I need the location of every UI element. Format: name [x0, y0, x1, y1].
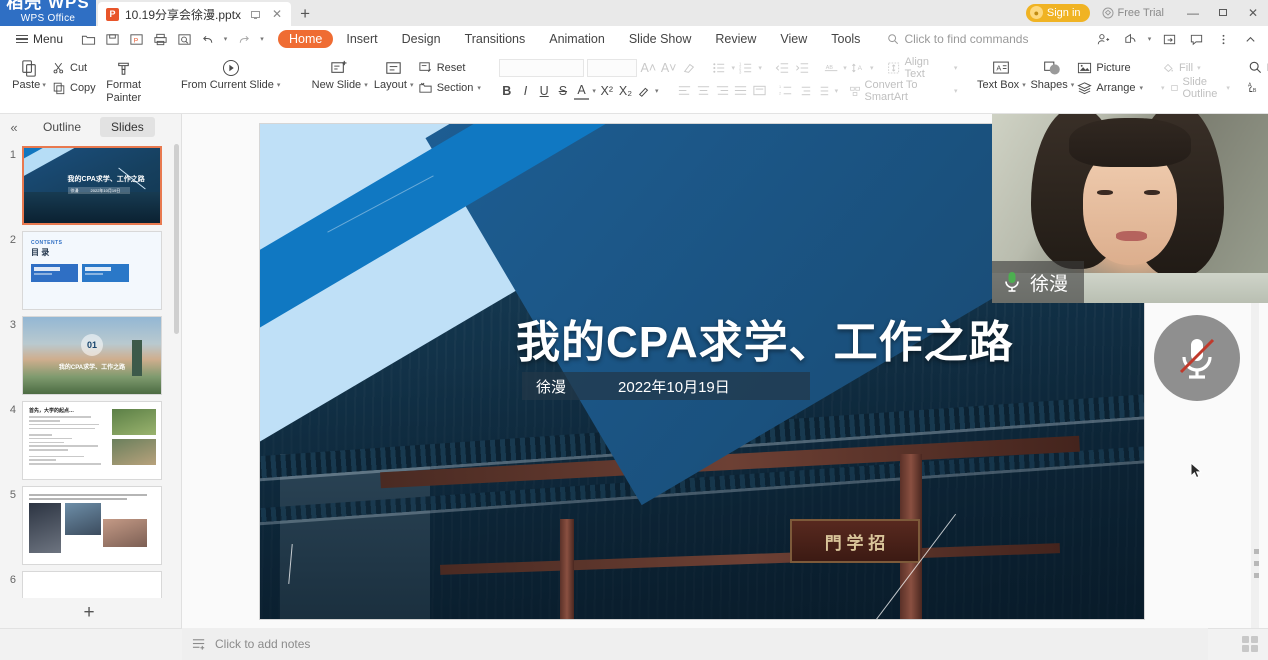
align-text-button[interactable]: Align Text▾	[887, 59, 957, 76]
titlebar-right-group: ● Sign in Free Trial — ✕	[1026, 0, 1268, 26]
document-tab-label: 10.19分享会徐漫.pptx	[125, 6, 241, 23]
underline-icon[interactable]: U	[536, 82, 552, 100]
participant-name-chip: 徐漫	[992, 261, 1084, 303]
slide-number: 3	[4, 316, 22, 331]
sign-in-button[interactable]: ● Sign in	[1026, 4, 1090, 22]
thumb3-pagoda	[132, 340, 142, 375]
notes-placeholder-label: Click to add notes	[215, 637, 310, 651]
thumb4-photo-2	[112, 439, 156, 465]
scissors-icon	[52, 61, 66, 75]
slide-thumbnail-canvas[interactable]	[22, 571, 162, 601]
fill-button[interactable]: Fill▾	[1161, 59, 1230, 76]
decrease-indent-icon[interactable]	[774, 59, 791, 77]
share-dropdown-icon[interactable]: ▾	[1145, 28, 1154, 50]
grow-font-icon[interactable]: A˄	[640, 59, 657, 77]
slide-thumbnail-canvas[interactable]: 01 我的CPA求学、工作之路	[22, 316, 162, 395]
new-slide-label: New Slide	[312, 79, 362, 92]
align-left-icon[interactable]	[677, 82, 693, 100]
thumb2-card-2	[82, 264, 129, 282]
align-text-label: Align Text	[905, 56, 950, 80]
mute-microphone-button[interactable]	[1154, 315, 1240, 401]
numbering-icon[interactable]: 12	[779, 82, 795, 100]
slide-number: 2	[4, 231, 22, 246]
layout-button[interactable]: Layout▾	[370, 54, 418, 92]
comment-icon[interactable]	[1184, 28, 1208, 50]
shapes-label: Shapes	[1030, 79, 1067, 92]
fill-label: Fill	[1179, 62, 1193, 74]
svg-text:B: B	[1253, 88, 1257, 94]
thumb2-art: CONTENTS 目 录	[23, 232, 161, 309]
superscript-icon[interactable]: X²	[599, 82, 615, 100]
paste-button[interactable]: Paste▾	[6, 54, 52, 92]
arrange-label: Arrange	[1096, 82, 1135, 94]
reset-button[interactable]: Reset	[418, 59, 481, 76]
thumb1-photo	[24, 192, 160, 224]
participant-name-label: 徐漫	[1030, 269, 1068, 296]
slide-number: 5	[4, 486, 22, 501]
sign-in-label: Sign in	[1047, 7, 1081, 19]
layout-label: Layout	[374, 79, 407, 92]
reset-label: Reset	[437, 62, 466, 74]
svg-text:P: P	[133, 37, 138, 44]
play-circle-icon	[220, 57, 242, 79]
slide-thumbnail-canvas[interactable]: CONTENTS 目 录	[22, 231, 162, 310]
menu-button[interactable]: Menu	[8, 28, 71, 50]
tab-home[interactable]: Home	[278, 30, 333, 48]
menu-button-label: Menu	[33, 32, 63, 46]
slide-number: 1	[4, 146, 22, 161]
sidebar-tab-slides[interactable]: Slides	[100, 117, 155, 137]
slides-small-buttons: Reset Section ▾	[418, 54, 481, 96]
thumb2-contents-en: CONTENTS	[31, 240, 153, 246]
thumb5-photo-3	[103, 519, 147, 547]
add-slide-button[interactable]: +	[4, 598, 174, 628]
video-eye-right	[1144, 190, 1161, 196]
cut-label: Cut	[70, 62, 87, 74]
temple-beam-2	[440, 543, 1060, 575]
quick-access-toolbar: P ▾ ▾	[77, 29, 268, 50]
slide-title-text[interactable]: 我的CPA求学、工作之路	[516, 306, 1014, 370]
close-tab-icon[interactable]: ✕	[269, 6, 285, 22]
logo-glyph-text: 稻壳 WPS	[0, 0, 96, 13]
notes-icon	[192, 637, 207, 651]
numbered-list-icon[interactable]: 123	[738, 59, 755, 77]
text-box-button[interactable]: A Text Box▾	[975, 54, 1027, 92]
slide-outline-label: Slide Outline	[1182, 76, 1222, 100]
ribbon-group-format: Fill▾ ▾ Slide Outline▾	[1155, 54, 1236, 112]
slide-outline-icon	[1170, 81, 1179, 95]
new-slide-button[interactable]: New Slide▾	[310, 54, 370, 92]
grid-view-icon[interactable]	[1242, 636, 1258, 652]
font-controls: A˄ A˅ ▾ 123 ▾	[499, 54, 957, 100]
collapse-ribbon-icon[interactable]	[1238, 28, 1262, 50]
new-slide-icon	[329, 57, 350, 79]
section-button[interactable]: Section ▾	[418, 79, 481, 96]
replace-icon: AB	[1248, 80, 1264, 95]
copy-label: Copy	[70, 82, 96, 94]
svg-text:1: 1	[779, 85, 781, 89]
font-row-bottom: B I U S A ▾ X² X₂ ▾	[499, 81, 957, 100]
layout-icon	[383, 57, 404, 79]
pptx-file-icon: P	[106, 8, 119, 21]
more-options-icon[interactable]	[1211, 28, 1235, 50]
fill-icon	[1161, 61, 1175, 75]
tab-animation[interactable]: Animation	[538, 30, 616, 48]
undo-dropdown-icon[interactable]: ▾	[221, 29, 230, 50]
tab-tools[interactable]: Tools	[820, 30, 871, 48]
microphone-muted-icon	[1173, 332, 1221, 384]
font-color-icon[interactable]: A	[574, 82, 590, 100]
bold-icon[interactable]: B	[499, 82, 515, 100]
find-search-icon	[1248, 60, 1263, 75]
cut-button[interactable]: Cut	[52, 59, 96, 76]
convert-to-smartart-label: Convert To SmartArt	[865, 79, 950, 103]
print-preview-icon[interactable]	[173, 29, 195, 50]
section-icon	[418, 80, 433, 95]
account-avatar-icon: ●	[1030, 6, 1043, 19]
slide-date-text: 2022年10月19日	[618, 376, 730, 397]
format-painter-button[interactable]: Format Painter	[96, 54, 152, 105]
menu-tab-row: Menu P ▾ ▾ Home Insert Design T	[0, 26, 1268, 52]
maximize-button[interactable]	[1208, 1, 1238, 25]
video-call-overlay[interactable]: 徐漫	[992, 114, 1268, 303]
find-commands-label: Click to find commands	[904, 32, 1028, 46]
paragraph-spacing-icon[interactable]	[816, 82, 832, 100]
collapse-sidebar-icon[interactable]: «	[4, 120, 24, 135]
temple-pillar-2	[560, 519, 574, 619]
replace-button[interactable]: AB Replace ▾	[1248, 79, 1268, 96]
temple-plaque: 門 学 招	[790, 519, 920, 563]
font-name-select[interactable]	[499, 59, 584, 77]
notes-pane[interactable]: Click to add notes	[182, 628, 1208, 660]
thumb2-contents-cn: 目 录	[31, 247, 153, 258]
subscript-icon[interactable]: X₂	[618, 82, 634, 100]
ribbon-group-font-paragraph: A˄ A˅ ▾ 123 ▾	[493, 54, 963, 112]
picture-icon	[1077, 61, 1092, 75]
slide-navigator-sidebar: « Outline Slides 1 我的CPA求学、工作之路 徐漫 2	[0, 114, 182, 628]
clear-format-icon[interactable]	[680, 59, 697, 77]
arrange-button[interactable]: Arrange ▾	[1077, 79, 1143, 96]
thumb5-photo-2	[65, 503, 101, 535]
slide-subtitle-box[interactable]: 徐漫 2022年10月19日	[522, 372, 810, 400]
reset-icon	[418, 60, 433, 75]
strikethrough-icon[interactable]: S	[555, 82, 571, 100]
from-current-slide-label: From Current Slide	[181, 79, 274, 92]
thumb2-cards	[31, 264, 153, 282]
share-icon[interactable]	[1118, 28, 1142, 50]
undo-icon[interactable]	[197, 29, 219, 50]
find-button[interactable]: Find	[1248, 59, 1268, 76]
section-label: Section	[437, 82, 474, 94]
slide-thumbnail-2[interactable]: 2 CONTENTS 目 录	[0, 225, 182, 310]
find-commands-box[interactable]: Click to find commands	[887, 32, 1028, 46]
ribbon-toolbar: Paste▾ Cut Copy Format Painter	[0, 52, 1268, 114]
menubar-right-group: ▾	[1091, 28, 1268, 50]
clipboard-small-buttons: Cut Copy	[52, 54, 96, 96]
thumb3-art: 01 我的CPA求学、工作之路	[23, 317, 161, 394]
bullet-list-icon[interactable]	[711, 59, 728, 77]
svg-text:AB: AB	[825, 64, 833, 70]
search-icon	[887, 33, 899, 45]
share-user-icon[interactable]	[1091, 28, 1115, 50]
thumb1-meta-author: 徐漫	[71, 188, 79, 194]
align-text-icon	[887, 61, 900, 75]
tab-transitions[interactable]: Transitions	[454, 30, 537, 48]
tab-review[interactable]: Review	[704, 30, 767, 48]
sidebar-tab-outline[interactable]: Outline	[32, 117, 92, 137]
microphone-icon	[1002, 270, 1022, 294]
copy-icon	[52, 81, 66, 95]
font-size-select[interactable]	[587, 59, 637, 77]
diamond-icon	[1102, 7, 1114, 19]
shrink-font-icon[interactable]: A˅	[660, 59, 677, 77]
increase-indent-icon[interactable]	[794, 59, 811, 77]
tab-design[interactable]: Design	[391, 30, 452, 48]
thumb1-meta: 徐漫 2022年10月19日	[68, 187, 130, 194]
slide-thumbnail-canvas[interactable]: 我的CPA求学、工作之路 徐漫 2022年10月19日	[22, 146, 162, 225]
ribbon-group-clipboard: Paste▾ Cut Copy Format Painter	[0, 54, 158, 112]
svg-text:3: 3	[739, 69, 742, 74]
tab-insert[interactable]: Insert	[335, 30, 388, 48]
format-painter-icon	[113, 57, 134, 79]
paste-icon	[19, 57, 40, 79]
smartart-icon	[849, 84, 861, 98]
redo-icon[interactable]	[232, 29, 254, 50]
paste-label: Paste	[12, 79, 40, 92]
mouse-cursor	[1190, 462, 1206, 480]
logo-subtitle: WPS Office	[21, 13, 76, 24]
text-direction-icon[interactable]: AB	[823, 59, 840, 77]
thumb4-art: 首先，大学的起点…	[23, 402, 161, 479]
ribbon-group-editing: Find AB Replace ▾ Sele	[1242, 54, 1268, 112]
svg-text:A: A	[997, 63, 1002, 72]
format-small-buttons: Fill▾ ▾ Slide Outline▾	[1161, 54, 1230, 96]
thumb3-section-badge: 01	[81, 334, 103, 356]
new-tab-button[interactable]: +	[291, 2, 319, 26]
text-box-label: Text Box	[977, 79, 1019, 92]
slide-number: 6	[4, 571, 22, 586]
save-as-icon[interactable]: P	[125, 29, 147, 50]
format-painter-label: Format Painter	[96, 79, 152, 105]
thumb4-photo-1	[112, 409, 156, 435]
open-folder-icon[interactable]	[77, 29, 99, 50]
shapes-icon	[1041, 57, 1063, 79]
ribbon-group-slides: New Slide▾ Layout▾ Reset Section	[304, 54, 487, 112]
tab-view[interactable]: View	[769, 30, 818, 48]
temple-plaque-text: 門 学 招	[825, 529, 885, 554]
slide-author-text: 徐漫	[536, 376, 566, 397]
thumb1-title: 我的CPA求学、工作之路	[68, 174, 145, 184]
wps-presentation-window: 稻壳 WPS WPS Office P 10.19分享会徐漫.pptx ✕ + …	[0, 0, 1268, 660]
thumb3-caption: 我的CPA求学、工作之路	[59, 362, 125, 371]
picture-button[interactable]: Picture	[1077, 59, 1143, 76]
title-bar: 稻壳 WPS WPS Office P 10.19分享会徐漫.pptx ✕ + …	[0, 0, 1268, 26]
align-center-icon[interactable]	[695, 82, 711, 100]
free-trial-button[interactable]: Free Trial	[1102, 7, 1164, 19]
slide-outline-button[interactable]: ▾ Slide Outline▾	[1161, 79, 1230, 96]
tab-slide-show[interactable]: Slide Show	[618, 30, 703, 48]
restore-tab-icon[interactable]	[247, 6, 263, 22]
wps-office-logo: 稻壳 WPS WPS Office	[0, 0, 96, 26]
stage-resize-dots	[1254, 549, 1259, 578]
copy-button[interactable]: Copy	[52, 79, 96, 96]
free-trial-label: Free Trial	[1118, 7, 1164, 19]
slide-thumbnail-1[interactable]: 1 我的CPA求学、工作之路 徐漫 2022年10月19日	[0, 140, 182, 225]
save-icon[interactable]	[101, 29, 123, 50]
thumb5-art	[23, 487, 161, 564]
slide-thumbnail-6[interactable]: 6	[0, 565, 182, 601]
sidebar-scrollbar-thumb[interactable]	[174, 144, 179, 334]
ribbon-group-insert: A Text Box▾ Shapes▾ Picture	[969, 54, 1149, 112]
thumb1-meta-date: 2022年10月19日	[91, 188, 121, 194]
ribbon-tabs: Home Insert Design Transitions Animation…	[278, 30, 871, 48]
svg-text:2: 2	[779, 92, 781, 96]
highlight-icon[interactable]	[636, 82, 652, 100]
line-spacing-icon[interactable]: A	[850, 59, 867, 77]
backup-icon[interactable]	[1157, 28, 1181, 50]
document-tab[interactable]: P 10.19分享会徐漫.pptx ✕	[98, 2, 291, 26]
close-window-button[interactable]: ✕	[1238, 1, 1268, 25]
convert-to-smartart-button[interactable]: Convert To SmartArt▾	[849, 82, 958, 99]
slide-number: 4	[4, 401, 22, 416]
ribbon-group-slideshow: From Current Slide▾	[164, 54, 298, 112]
justify-icon[interactable]	[733, 82, 749, 100]
font-row-top: A˄ A˅ ▾ 123 ▾	[499, 58, 957, 77]
video-fringe	[1069, 118, 1190, 167]
insert-small-buttons: Picture Arrange ▾	[1077, 54, 1143, 96]
video-mouth	[1116, 231, 1146, 240]
svg-text:A: A	[857, 64, 862, 71]
sidebar-header: « Outline Slides	[0, 114, 181, 140]
slide-thumbnail-list[interactable]: 1 我的CPA求学、工作之路 徐漫 2022年10月19日	[0, 140, 182, 628]
slide-thumbnail-canvas[interactable]	[22, 486, 162, 565]
thumb5-photo-1	[29, 503, 61, 553]
status-bar: Click to add notes	[0, 628, 1268, 660]
print-icon[interactable]	[149, 29, 171, 50]
thumb1-art: 我的CPA求学、工作之路 徐漫 2022年10月19日	[24, 148, 160, 223]
from-current-slide-button[interactable]: From Current Slide▾	[170, 54, 292, 92]
shapes-button[interactable]: Shapes▾	[1027, 54, 1077, 92]
slide-thumbnail-5[interactable]: 5	[0, 480, 182, 565]
minimize-button[interactable]: —	[1178, 1, 1208, 25]
text-box-icon: A	[990, 57, 1012, 79]
distribute-icon[interactable]	[752, 82, 768, 100]
align-right-icon[interactable]	[714, 82, 730, 100]
slide-thumbnail-3[interactable]: 3 01 我的CPA求学、工作之路	[0, 310, 182, 395]
picture-label: Picture	[1096, 62, 1130, 74]
italic-icon[interactable]: I	[518, 82, 534, 100]
customize-toolbar-icon[interactable]: ▾	[256, 29, 268, 50]
arrange-icon	[1077, 81, 1092, 95]
slide-thumbnail-4[interactable]: 4 首先，大学的起点…	[0, 395, 182, 480]
hamburger-icon	[16, 35, 28, 44]
thumb2-card-1	[31, 264, 78, 282]
slide-thumbnail-canvas[interactable]: 首先，大学的起点…	[22, 401, 162, 480]
multilevel-list-icon[interactable]	[797, 82, 813, 100]
editing-small-buttons: Find AB Replace ▾	[1248, 54, 1268, 96]
